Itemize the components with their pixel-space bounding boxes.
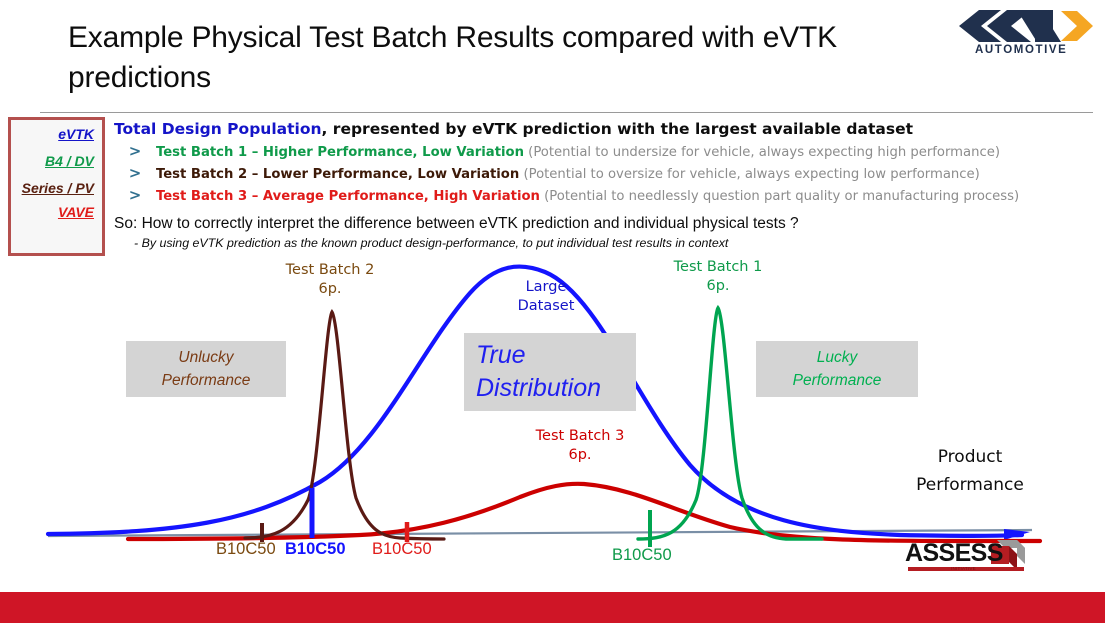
annotation-lucky-line1: Lucky — [756, 346, 918, 369]
bullet-text-2: Test Batch 2 – Lower Performance, Low Va… — [156, 166, 980, 183]
annotation-unlucky-line2: Performance — [126, 369, 286, 392]
stage-item-series-pv[interactable]: Series / PV — [15, 180, 94, 196]
process-stage-box: eVTK B4 / DV Series / PV VAVE — [8, 117, 105, 256]
bullet-item-2: > Test Batch 2 – Lower Performance, Low … — [114, 165, 1094, 183]
bullet-text-1: Test Batch 1 – Higher Performance, Low V… — [156, 144, 1000, 161]
gkn-wordmark: AUTOMOTIVE — [975, 44, 1067, 56]
caption-test-batch-2-points: 6p. — [250, 280, 410, 299]
bullet-headline-2: Test Batch 2 – Lower Performance, Low Va… — [156, 167, 519, 182]
annotation-lucky-line2: Performance — [756, 369, 918, 392]
caption-test-batch-1: Test Batch 1 6p. — [638, 258, 798, 296]
stage-item-b4dv[interactable]: B4 / DV — [15, 153, 94, 170]
axis-title-line2: Performance — [890, 471, 1050, 499]
caption-test-batch-2-title: Test Batch 2 — [250, 261, 410, 280]
assess-tagline: INITIATIVE — [951, 566, 976, 571]
axis-label-b10c50-batch1: B10C50 — [612, 546, 672, 565]
caption-test-batch-3: Test Batch 3 6p. — [500, 427, 660, 465]
axis-title-line1: Product — [890, 443, 1050, 471]
page-title: Example Physical Test Batch Results comp… — [68, 18, 968, 98]
answer-line: - By using eVTK prediction as the known … — [134, 236, 728, 250]
axis-label-b10c50-batch2: B10C50 — [216, 540, 276, 559]
caption-test-batch-3-title: Test Batch 3 — [500, 427, 660, 446]
bullet-block: Total Design Population, represented by … — [114, 119, 1094, 205]
bullet-note-3: (Potential to needlessly question part q… — [540, 189, 1019, 204]
chevron-right-icon: > — [114, 165, 156, 182]
axis-label-b10c50-batch3: B10C50 — [372, 540, 432, 559]
annotation-unlucky-line1: Unlucky — [126, 346, 286, 369]
slide-canvas: Example Physical Test Batch Results comp… — [0, 0, 1105, 623]
header-divider — [40, 112, 1093, 113]
caption-large-dataset: Large Dataset — [477, 278, 615, 316]
caption-test-batch-1-title: Test Batch 1 — [638, 258, 798, 277]
chevron-right-icon: > — [114, 187, 156, 204]
annotation-true-line1: True — [476, 339, 636, 372]
question-line: So: How to correctly interpret the diffe… — [114, 215, 799, 233]
bullet-item-1: > Test Batch 1 – Higher Performance, Low… — [114, 143, 1094, 161]
assess-initiative-logo: ASSESS INITIATIVE — [905, 536, 1035, 576]
gkn-automotive-logo: AUTOMOTIVE — [957, 8, 1097, 60]
caption-test-batch-1-points: 6p. — [638, 277, 798, 296]
caption-large-dataset-line1: Large — [477, 278, 615, 297]
bullet-headline-1: Test Batch 1 – Higher Performance, Low V… — [156, 145, 524, 160]
lead-highlight: Total Design Population — [114, 120, 322, 138]
stage-item-evtk[interactable]: eVTK — [15, 126, 94, 143]
chevron-right-icon: > — [114, 143, 156, 160]
bullet-headline-3: Test Batch 3 – Average Performance, High… — [156, 189, 540, 204]
lead-line: Total Design Population, represented by … — [114, 119, 1094, 139]
bullet-note-2: (Potential to oversize for vehicle, alwa… — [519, 167, 980, 182]
annotation-unlucky-performance: Unlucky Performance — [126, 341, 286, 397]
caption-test-batch-2: Test Batch 2 6p. — [250, 261, 410, 299]
caption-large-dataset-line2: Dataset — [477, 297, 615, 316]
lead-rest: , represented by eVTK prediction with th… — [322, 120, 914, 138]
bullet-item-3: > Test Batch 3 – Average Performance, Hi… — [114, 187, 1094, 205]
axis-label-b10c50-large: B10C50 — [285, 540, 346, 559]
annotation-true-line2: Distribution — [476, 372, 636, 405]
gkn-mark-icon — [957, 8, 1097, 44]
axis-title-product-performance: Product Performance — [890, 443, 1050, 499]
annotation-true-distribution: True Distribution — [464, 333, 636, 411]
footer-bar — [0, 592, 1105, 623]
annotation-lucky-performance: Lucky Performance — [756, 341, 918, 397]
caption-test-batch-3-points: 6p. — [500, 446, 660, 465]
assess-wordmark: ASSESS — [905, 539, 1003, 568]
bullet-note-1: (Potential to undersize for vehicle, alw… — [524, 145, 1000, 160]
stage-item-vave[interactable]: VAVE — [15, 204, 94, 221]
bullet-text-3: Test Batch 3 – Average Performance, High… — [156, 188, 1019, 205]
